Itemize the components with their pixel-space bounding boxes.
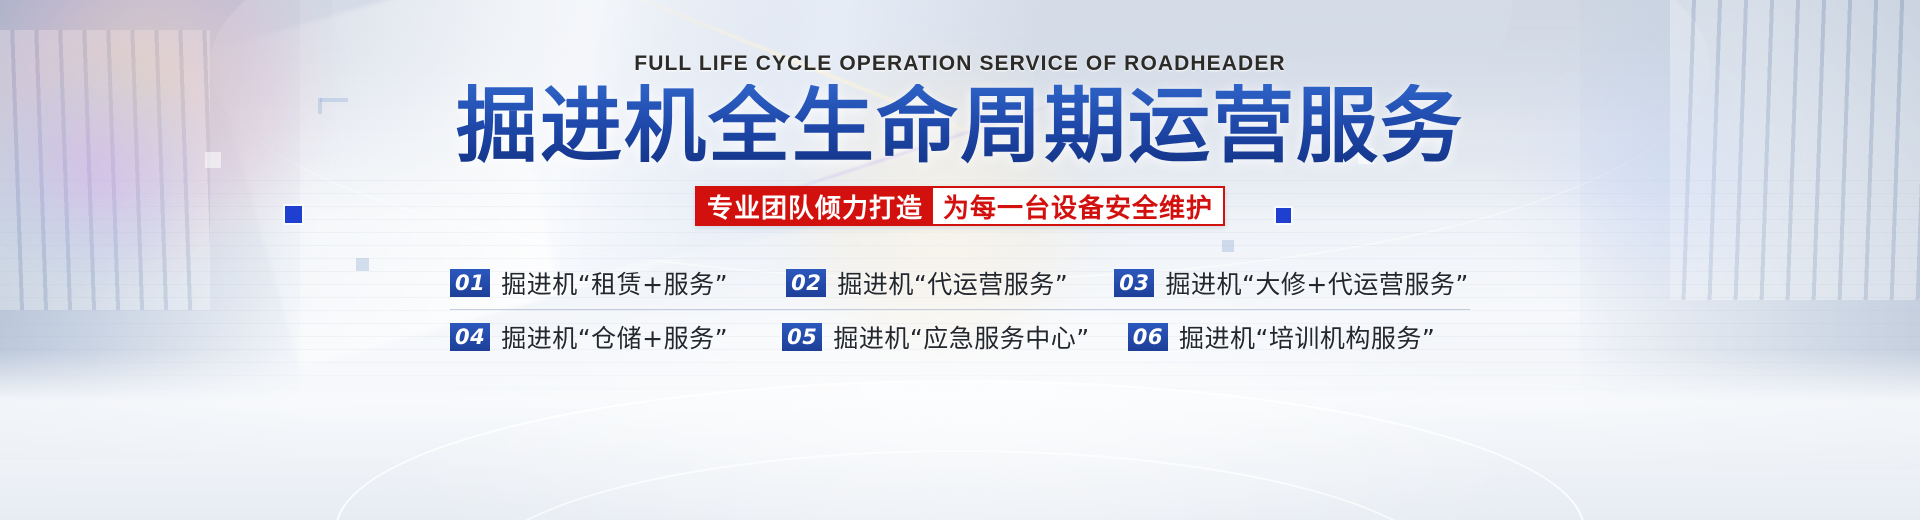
service-item-02[interactable]: 02 掘进机“代运营服务” bbox=[786, 265, 1068, 301]
sub-banner-left-text: 专业团队倾力打造 bbox=[697, 188, 933, 224]
service-number-badge: 03 bbox=[1114, 269, 1154, 297]
service-label: 掘进机“仓储+服务” bbox=[501, 319, 728, 355]
service-number-badge: 04 bbox=[450, 323, 490, 351]
banner-eyebrow: FULL LIFE CYCLE OPERATION SERVICE OF ROA… bbox=[634, 52, 1285, 76]
sub-banner: 专业团队倾力打造 为每一台设备安全维护 bbox=[695, 186, 1225, 226]
banner-content: FULL LIFE CYCLE OPERATION SERVICE OF ROA… bbox=[0, 0, 1920, 520]
service-item-05[interactable]: 05 掘进机“应急服务中心” bbox=[782, 319, 1090, 355]
service-row-bottom: 04 掘进机“仓储+服务” 05 掘进机“应急服务中心” 06 掘进机“培训机构… bbox=[450, 310, 1470, 364]
service-number-badge: 05 bbox=[782, 323, 822, 351]
service-label: 掘进机“大修+代运营服务” bbox=[1165, 265, 1468, 301]
service-number-badge: 02 bbox=[786, 269, 826, 297]
service-item-03[interactable]: 03 掘进机“大修+代运营服务” bbox=[1114, 265, 1469, 301]
promo-banner: FULL LIFE CYCLE OPERATION SERVICE OF ROA… bbox=[0, 0, 1920, 520]
banner-headline: 掘进机全生命周期运营服务 bbox=[456, 84, 1464, 170]
service-label: 掘进机“培训机构服务” bbox=[1179, 319, 1435, 355]
service-item-01[interactable]: 01 掘进机“租赁+服务” bbox=[450, 265, 728, 301]
sub-banner-right-text: 为每一台设备安全维护 bbox=[933, 188, 1223, 224]
service-item-04[interactable]: 04 掘进机“仓储+服务” bbox=[450, 319, 728, 355]
service-list: 01 掘进机“租赁+服务” 02 掘进机“代运营服务” 03 掘进机“大修+代运… bbox=[450, 256, 1470, 364]
service-row-top: 01 掘进机“租赁+服务” 02 掘进机“代运营服务” 03 掘进机“大修+代运… bbox=[450, 256, 1470, 310]
service-label: 掘进机“应急服务中心” bbox=[833, 319, 1089, 355]
service-number-badge: 01 bbox=[450, 269, 490, 297]
service-label: 掘进机“代运营服务” bbox=[837, 265, 1068, 301]
service-number-badge: 06 bbox=[1128, 323, 1168, 351]
service-label: 掘进机“租赁+服务” bbox=[501, 265, 728, 301]
service-item-06[interactable]: 06 掘进机“培训机构服务” bbox=[1128, 319, 1436, 355]
